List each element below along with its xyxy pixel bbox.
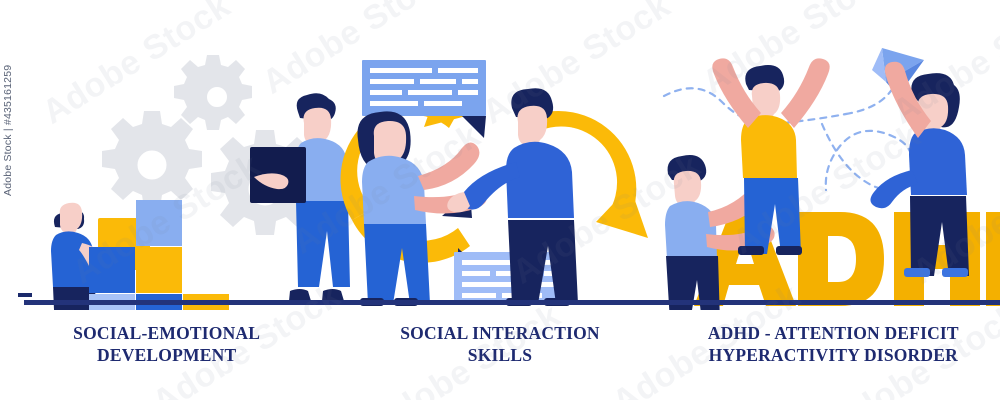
ground-line xyxy=(24,300,1000,305)
caption-1-line-1: SOCIAL-EMOTIONAL xyxy=(73,323,260,343)
gear-group xyxy=(102,55,319,235)
illustration-canvas: SOCIAL-EMOTIONAL DEVELOPMENT SOCIAL INTE… xyxy=(0,0,1000,400)
letter-D-1 xyxy=(798,212,884,306)
caption-adhd: ADHD - ATTENTION DEFICIT HYPERACTIVITY D… xyxy=(667,322,1000,367)
block-light-blue-top xyxy=(136,200,182,246)
figure-right-with-plane xyxy=(870,62,969,277)
caption-2-line-1: SOCIAL INTERACTION xyxy=(400,323,600,343)
block-yellow-mid-right xyxy=(136,247,182,293)
block-blue-mid-left xyxy=(89,247,135,293)
letter-D-2 xyxy=(986,212,1000,306)
chat-bubble-bottom xyxy=(454,248,564,304)
gear-icon-small-top xyxy=(174,55,252,130)
caption-3-line-2: HYPERACTIVITY DISORDER xyxy=(681,344,986,366)
panel-2-artwork xyxy=(330,40,650,310)
watermark-attribution: Adobe Stock | #435161259 xyxy=(2,65,14,196)
caption-row: SOCIAL-EMOTIONAL DEVELOPMENT SOCIAL INTE… xyxy=(0,322,1000,367)
caption-1-line-2: DEVELOPMENT xyxy=(14,344,319,366)
panel-1-artwork xyxy=(20,55,350,310)
caption-social-emotional-development: SOCIAL-EMOTIONAL DEVELOPMENT xyxy=(0,322,333,367)
caption-social-interaction-skills: SOCIAL INTERACTION SKILLS xyxy=(333,322,666,367)
caption-2-line-2: SKILLS xyxy=(347,344,652,366)
panel-3-artwork xyxy=(650,38,1000,310)
gear-icon-large-left xyxy=(102,111,202,208)
block-stack xyxy=(89,200,229,310)
caption-3-line-1: ADHD - ATTENTION DEFICIT xyxy=(708,323,959,343)
